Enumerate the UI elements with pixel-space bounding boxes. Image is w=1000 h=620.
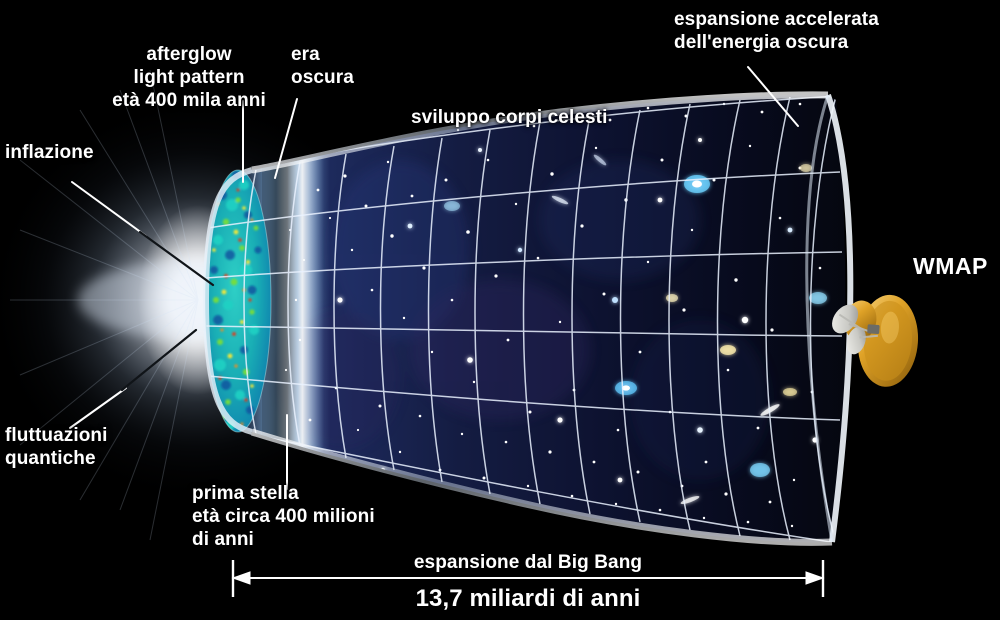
label-eta-universo: 13,7 miliardi di anni: [278, 585, 778, 613]
label-prima-stella: prima stella età circa 400 milioni di an…: [192, 482, 375, 551]
universe-timeline-figure: inflazione afterglow light pattern età 4…: [0, 0, 1000, 620]
label-energia-oscura: espansione accelerata dell'energia oscur…: [674, 8, 879, 54]
label-era-oscura: era oscura: [291, 43, 354, 89]
label-sviluppo-corpi-celesti: sviluppo corpi celesti: [411, 106, 607, 129]
label-fluttuazioni-quantiche: fluttuazioni quantiche: [5, 424, 108, 470]
label-afterglow: afterglow light pattern età 400 mila ann…: [59, 43, 319, 112]
label-espansione-big-bang: espansione dal Big Bang: [278, 551, 778, 574]
wmap-instrument-box: [867, 324, 880, 334]
label-wmap: WMAP: [913, 255, 988, 278]
label-inflazione: inflazione: [5, 141, 94, 164]
